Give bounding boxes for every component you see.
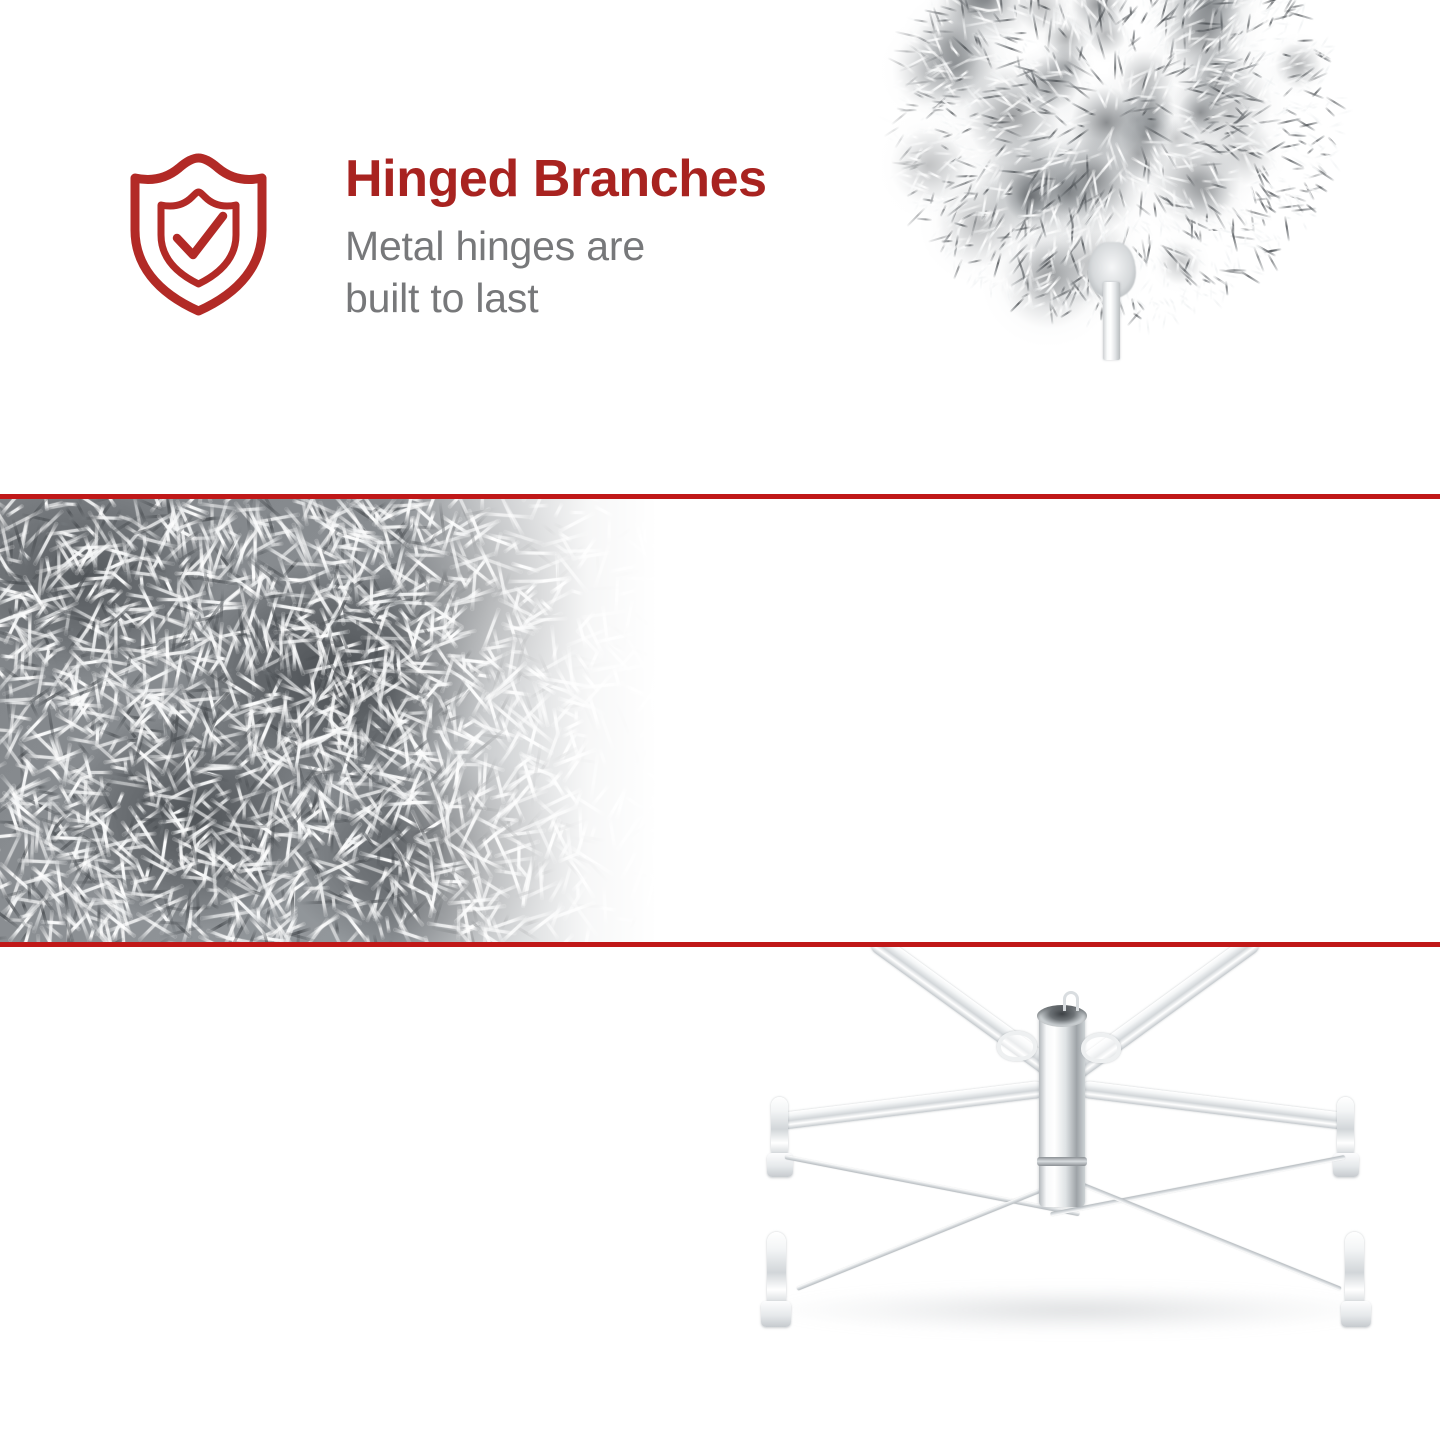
shield-check-icon bbox=[127, 152, 270, 317]
feature-text-hinged-branches: Hinged Branches Metal hinges are built t… bbox=[345, 152, 767, 324]
white-tree-needles-closeup-photo bbox=[0, 499, 700, 942]
feature-section-hinged-branches: Hinged Branches Metal hinges are built t… bbox=[0, 0, 1440, 494]
wing-nut-left bbox=[997, 1031, 1037, 1061]
metal-tree-stand-photo bbox=[745, 957, 1405, 1387]
feature-infographic: Hinged Branches Metal hinges are built t… bbox=[0, 0, 1440, 1440]
branch-collar bbox=[1088, 242, 1136, 298]
feature-description-line: built to last bbox=[345, 273, 767, 325]
feature-description: Metal hinges are built to last bbox=[345, 221, 767, 324]
branch-metal-stem bbox=[1103, 282, 1120, 360]
stand-hook bbox=[1063, 991, 1079, 1011]
feature-title: Hinged Branches bbox=[345, 152, 767, 207]
feature-description-line: Metal hinges are bbox=[345, 221, 767, 273]
feature-section-sturdy-base: Sturdy Base A reliable metal stand for y… bbox=[0, 947, 1440, 1440]
wing-nut-right bbox=[1081, 1033, 1121, 1063]
feature-section-pvc-tips: PVC Tips Flame-retardant and easy to flu… bbox=[0, 499, 1440, 942]
section-divider bbox=[0, 942, 1440, 947]
christmas-tree-branch-photo bbox=[845, 0, 1440, 494]
section-divider bbox=[0, 494, 1440, 499]
